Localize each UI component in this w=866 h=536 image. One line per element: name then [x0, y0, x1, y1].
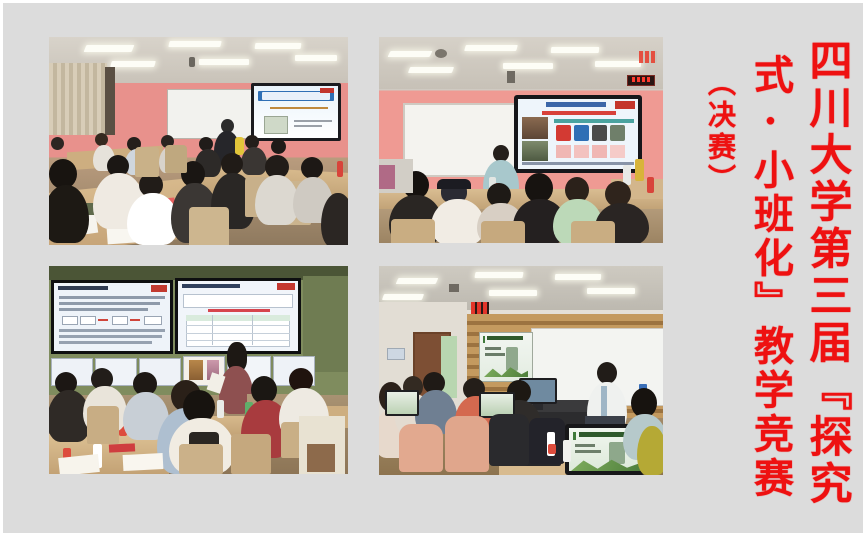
water-bottle [337, 161, 343, 177]
ceiling-light [168, 41, 221, 47]
photo-2-scene [379, 37, 663, 243]
student-head [51, 137, 64, 150]
poster-canvas: 四川大学第三届『探究 式·小班化』教学竞赛 （决赛） [0, 0, 866, 536]
projection-screen-left [51, 280, 173, 354]
photo-3-scene [49, 266, 348, 474]
photo-bottom-right [379, 266, 663, 475]
chair [179, 444, 223, 474]
ceiling-light [199, 59, 249, 65]
slide-content [518, 99, 638, 169]
chair [391, 219, 435, 243]
chair [445, 416, 489, 472]
exit-sign [471, 302, 489, 314]
ceiling-light [595, 61, 641, 67]
student-body [637, 426, 663, 475]
water-bottle [548, 444, 556, 454]
presenter-head [597, 362, 617, 384]
ceiling-light [110, 61, 156, 67]
photo-top-left [49, 37, 348, 245]
bin-icon [610, 125, 625, 141]
water-bottle [635, 159, 644, 181]
bin-icon [574, 125, 589, 141]
student-head [301, 157, 323, 179]
water-bottle [563, 440, 571, 462]
ceiling-light [295, 55, 337, 61]
ceiling-light [489, 290, 537, 296]
ceiling-light [408, 67, 454, 73]
chair [481, 221, 525, 243]
slide-content-right [178, 281, 298, 351]
ceiling-light [382, 294, 424, 300]
slide-content [480, 333, 532, 381]
bin-icon [556, 125, 571, 141]
title-column-1: 四川大学第三届『探究 [805, 38, 848, 508]
chair [399, 424, 443, 472]
student-head [221, 153, 243, 175]
whiteboard [167, 89, 257, 139]
student-head [95, 133, 108, 146]
photo-bottom-left [49, 266, 348, 474]
monitor [385, 390, 419, 416]
ceiling-light [396, 278, 439, 284]
chair [489, 414, 529, 466]
ceiling-light [464, 45, 518, 51]
title-column-3: （决赛） [706, 68, 734, 196]
chair [165, 145, 187, 173]
ceiling-light [255, 43, 302, 49]
projection-screen [479, 332, 533, 382]
photo-1-scene [49, 37, 348, 245]
display-screen [251, 83, 341, 141]
bin-icon [592, 125, 607, 141]
slide-content [254, 86, 338, 138]
chair [189, 207, 229, 245]
chair [135, 147, 159, 177]
window-curtain [49, 63, 107, 135]
display-screen [514, 95, 642, 173]
page-edge-top [0, 0, 866, 3]
photo-top-right [379, 37, 663, 243]
exit-sign [639, 51, 657, 63]
chair [231, 434, 271, 474]
ceiling-light [388, 51, 433, 57]
photo-4-scene [379, 266, 663, 475]
ceiling-light [551, 47, 600, 53]
ceiling-light [84, 45, 135, 52]
student-body [241, 147, 267, 175]
page-edge-left [0, 0, 3, 536]
chair [87, 406, 119, 444]
ceiling-light [587, 288, 635, 294]
ceiling-light [555, 274, 601, 280]
water-bottle [647, 177, 654, 193]
title-column-2: 式·小班化』教学竞赛 [750, 54, 790, 501]
water-bottle [217, 400, 224, 418]
student-head [271, 139, 286, 154]
chair [571, 221, 615, 243]
ceiling-light [474, 272, 523, 278]
slide-content-left [54, 283, 170, 351]
ceiling-light [503, 63, 553, 69]
